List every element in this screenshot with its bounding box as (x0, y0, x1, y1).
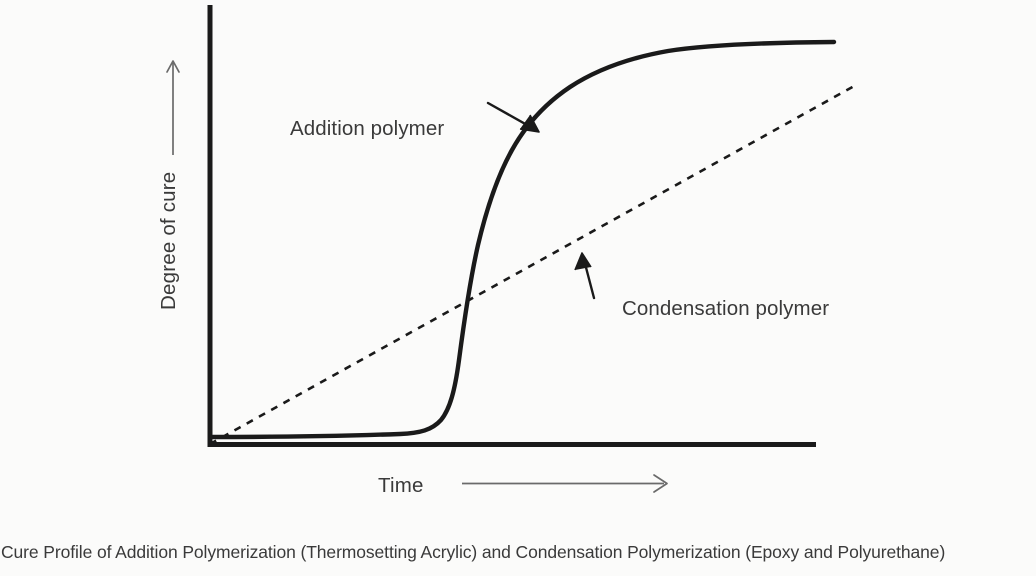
annotation-label-condensation-polymer: Condensation polymer (622, 297, 829, 320)
annotation-label-addition-polymer: Addition polymer (290, 117, 444, 140)
chart-figure: Degree of cure Time Addition polymer Con… (0, 0, 1036, 528)
x-axis-label: Time (378, 474, 424, 497)
chart-background (0, 0, 1036, 528)
figure-caption: Cure Profile of Addition Polymerization … (0, 541, 945, 563)
caption-bar: Cure Profile of Addition Polymerization … (0, 528, 1036, 576)
y-axis-label: Degree of cure (157, 172, 180, 310)
